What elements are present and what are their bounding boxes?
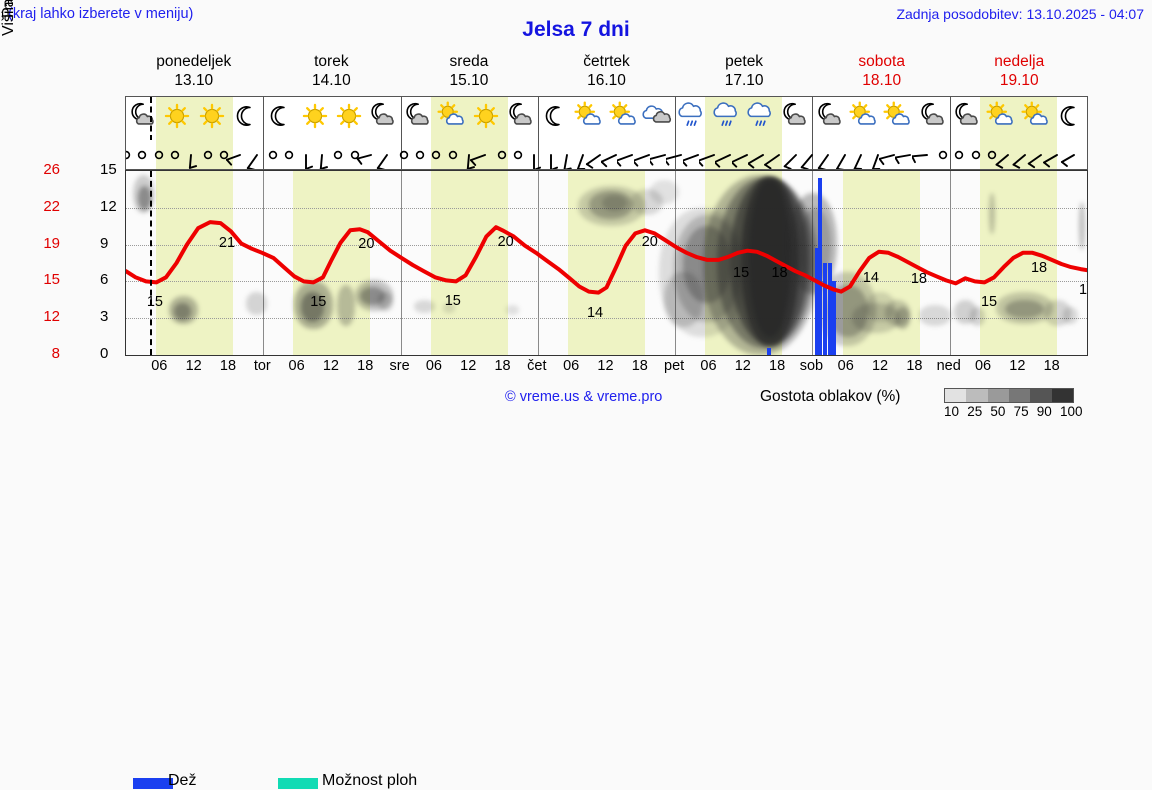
x-axis-tick-label: 06 (416, 358, 452, 374)
cloud-density-tick: 50 (990, 404, 1005, 419)
showers-legend-label: Možnost ploh (322, 772, 417, 790)
copyright-link[interactable]: © vreme.us & vreme.pro (505, 389, 662, 405)
x-axis-tick-label: 18 (347, 358, 383, 374)
x-axis-tick-label: ned (931, 358, 967, 374)
cloud-density-swatch (1009, 389, 1030, 402)
x-axis-tick-label: 06 (279, 358, 315, 374)
x-axis-tick-label: 12 (862, 358, 898, 374)
x-axis-tick-label: 18 (1034, 358, 1070, 374)
cloud-density-swatch (988, 389, 1009, 402)
showers-legend-swatch (278, 778, 318, 789)
cloud-density-colorbar (944, 388, 1074, 403)
x-axis-tick-label: 18 (210, 358, 246, 374)
cloud-density-tick: 90 (1037, 404, 1052, 419)
x-axis-tick-label: 12 (588, 358, 624, 374)
x-axis-tick-label: 06 (553, 358, 589, 374)
x-axis-tick-label: 12 (313, 358, 349, 374)
x-axis-tick-label: 18 (759, 358, 795, 374)
x-axis-tick-label: 18 (896, 358, 932, 374)
x-axis-tick-label: tor (244, 358, 280, 374)
cloud-density-swatch (945, 389, 966, 402)
x-axis-tick-label: 06 (141, 358, 177, 374)
cloud-density-tick: 25 (967, 404, 982, 419)
x-axis-tick-label: 18 (622, 358, 658, 374)
cloud-density-legend-title: Gostota oblakov (%) (760, 388, 900, 406)
cloud-density-tick: 10 (944, 404, 959, 419)
x-axis-tick-labels: 061218tor061218sre061218čet061218pet0612… (0, 0, 1152, 443)
x-axis-tick-label: sob (793, 358, 829, 374)
x-axis-tick-label: sre (382, 358, 418, 374)
cloud-density-swatch (966, 389, 987, 402)
cloud-density-swatch (1052, 389, 1073, 402)
rain-legend-swatch (133, 778, 173, 789)
x-axis-tick-label: 12 (176, 358, 212, 374)
rain-legend-label: Dež (168, 772, 196, 790)
x-axis-tick-label: 06 (690, 358, 726, 374)
x-axis-tick-label: pet (656, 358, 692, 374)
cloud-density-swatch (1030, 389, 1051, 402)
x-axis-tick-label: 12 (450, 358, 486, 374)
cloud-density-tick: 75 (1014, 404, 1029, 419)
x-axis-tick-label: 12 (999, 358, 1035, 374)
x-axis-tick-label: 18 (485, 358, 521, 374)
cloud-density-tick: 100 (1060, 404, 1083, 419)
x-axis-tick-label: 12 (725, 358, 761, 374)
cloud-density-tick-labels: 1025507590100 (938, 404, 1086, 422)
x-axis-tick-label: čet (519, 358, 555, 374)
x-axis-tick-label: 06 (828, 358, 864, 374)
x-axis-tick-label: 06 (965, 358, 1001, 374)
